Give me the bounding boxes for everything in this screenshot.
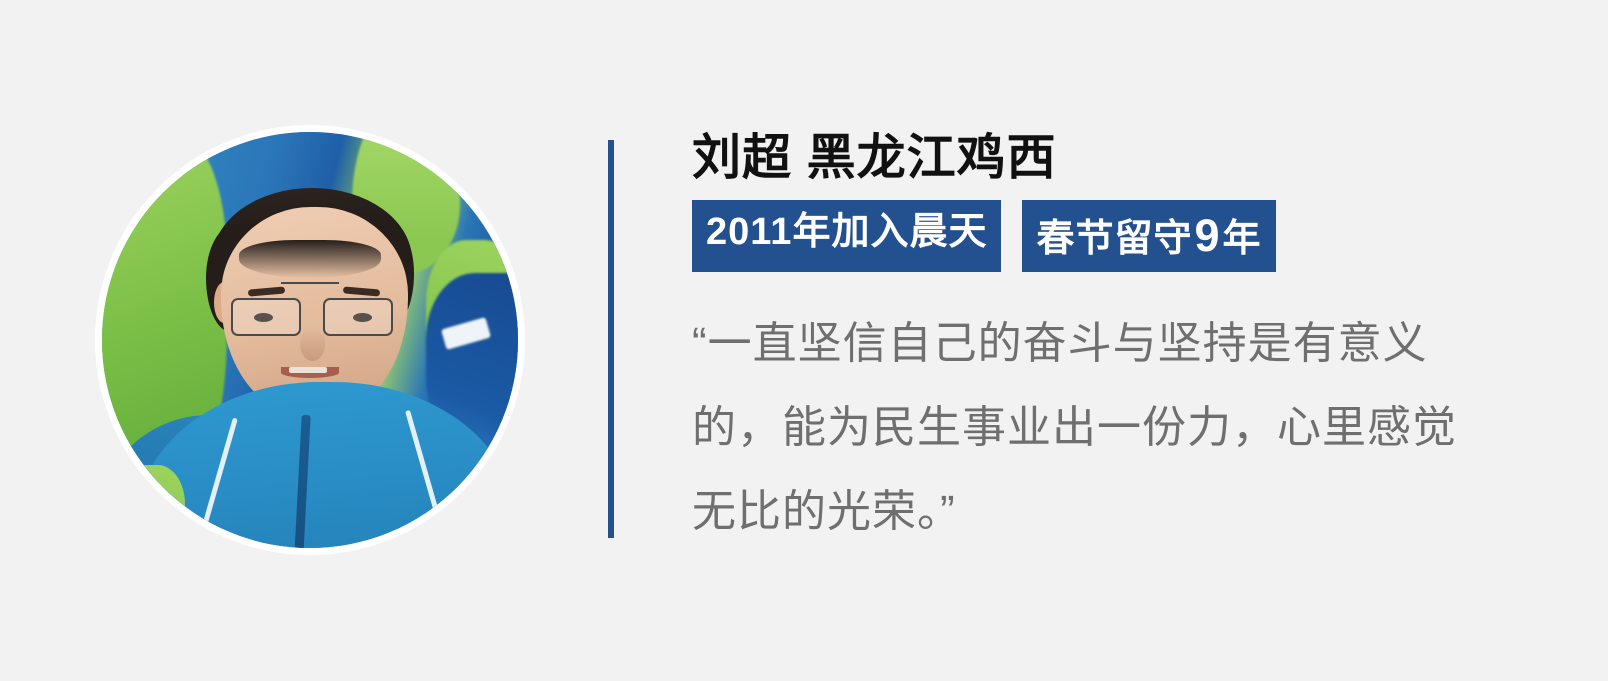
photo-fringe (239, 240, 380, 277)
profile-card: 刘超 黑龙江鸡西 2011年加入晨天 春节留守 9 年 “一直坚信自己的奋斗与坚… (0, 0, 1608, 681)
badge-number: 9 (1192, 213, 1222, 258)
badge-suffix-label: 年 (1223, 220, 1262, 258)
vertical-divider (608, 140, 614, 538)
photo-glasses-bridge (281, 282, 339, 284)
profile-content: 刘超 黑龙江鸡西 2011年加入晨天 春节留守 9 年 “一直坚信自己的奋斗与坚… (688, 132, 1508, 554)
photo-glasses-lens-right (323, 298, 393, 335)
page-title: 刘超 黑龙江鸡西 (692, 132, 1508, 186)
status-badge-join-year: 2011年加入晨天 (692, 200, 1001, 272)
avatar (95, 125, 525, 555)
portrait-photo (102, 132, 518, 548)
status-badge-spring-festival: 春节留守 9 年 (1022, 200, 1275, 272)
photo-glasses-lens-left (231, 298, 301, 335)
badge-row: 2011年加入晨天 春节留守 9 年 (692, 200, 1508, 272)
photo-teeth (289, 367, 326, 372)
photo-jacket-green-trim (102, 465, 185, 548)
badge-prefix-label: 春节留守 (1036, 220, 1192, 258)
profile-quote: “一直坚信自己的奋斗与坚持是有意义的，能为民生事业出一份力，心里感觉无比的光荣。… (692, 302, 1482, 554)
photo-nose (300, 328, 325, 361)
